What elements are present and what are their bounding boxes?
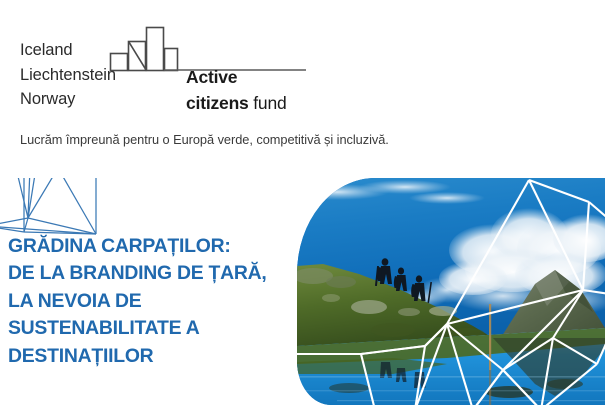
programme-word-fund: fund xyxy=(253,93,286,113)
programme-line-2: citizens fund xyxy=(186,90,287,116)
donor-logo-block: Iceland Liechtenstein Norway Active citi… xyxy=(20,24,350,124)
headline-line-2: DE LA BRANDING DE ȚARĂ, xyxy=(8,260,308,287)
headline-line-1: GRĂDINA CARPAȚILOR: xyxy=(8,233,308,260)
hero-headline: GRĂDINA CARPAȚILOR: DE LA BRANDING DE ȚA… xyxy=(8,233,308,370)
programme-word-citizens: citizens xyxy=(186,93,249,113)
hero-photo-clip xyxy=(297,178,605,405)
headline-line-4: SUSTENABILITATE A xyxy=(8,315,308,342)
headline-line-3: LA NEVOIA DE xyxy=(8,288,308,315)
banner-page: Iceland Liechtenstein Norway Active citi… xyxy=(0,0,605,405)
programme-word-active: Active xyxy=(186,67,237,87)
blue-polygon-mesh-icon xyxy=(0,178,120,238)
headline-line-5: DESTINAȚIILOR xyxy=(8,343,308,370)
hero-section: GRĂDINA CARPAȚILOR: DE LA BRANDING DE ȚA… xyxy=(0,178,605,405)
mountain-hikers-photograph xyxy=(297,178,605,405)
donor-country-norway: Norway xyxy=(20,87,155,112)
hero-photo xyxy=(297,178,605,405)
programme-tagline: Lucrăm împreună pentru o Europă verde, c… xyxy=(20,131,389,148)
programme-wordmark: Active citizens fund xyxy=(186,64,287,116)
programme-line-1: Active xyxy=(186,64,287,90)
